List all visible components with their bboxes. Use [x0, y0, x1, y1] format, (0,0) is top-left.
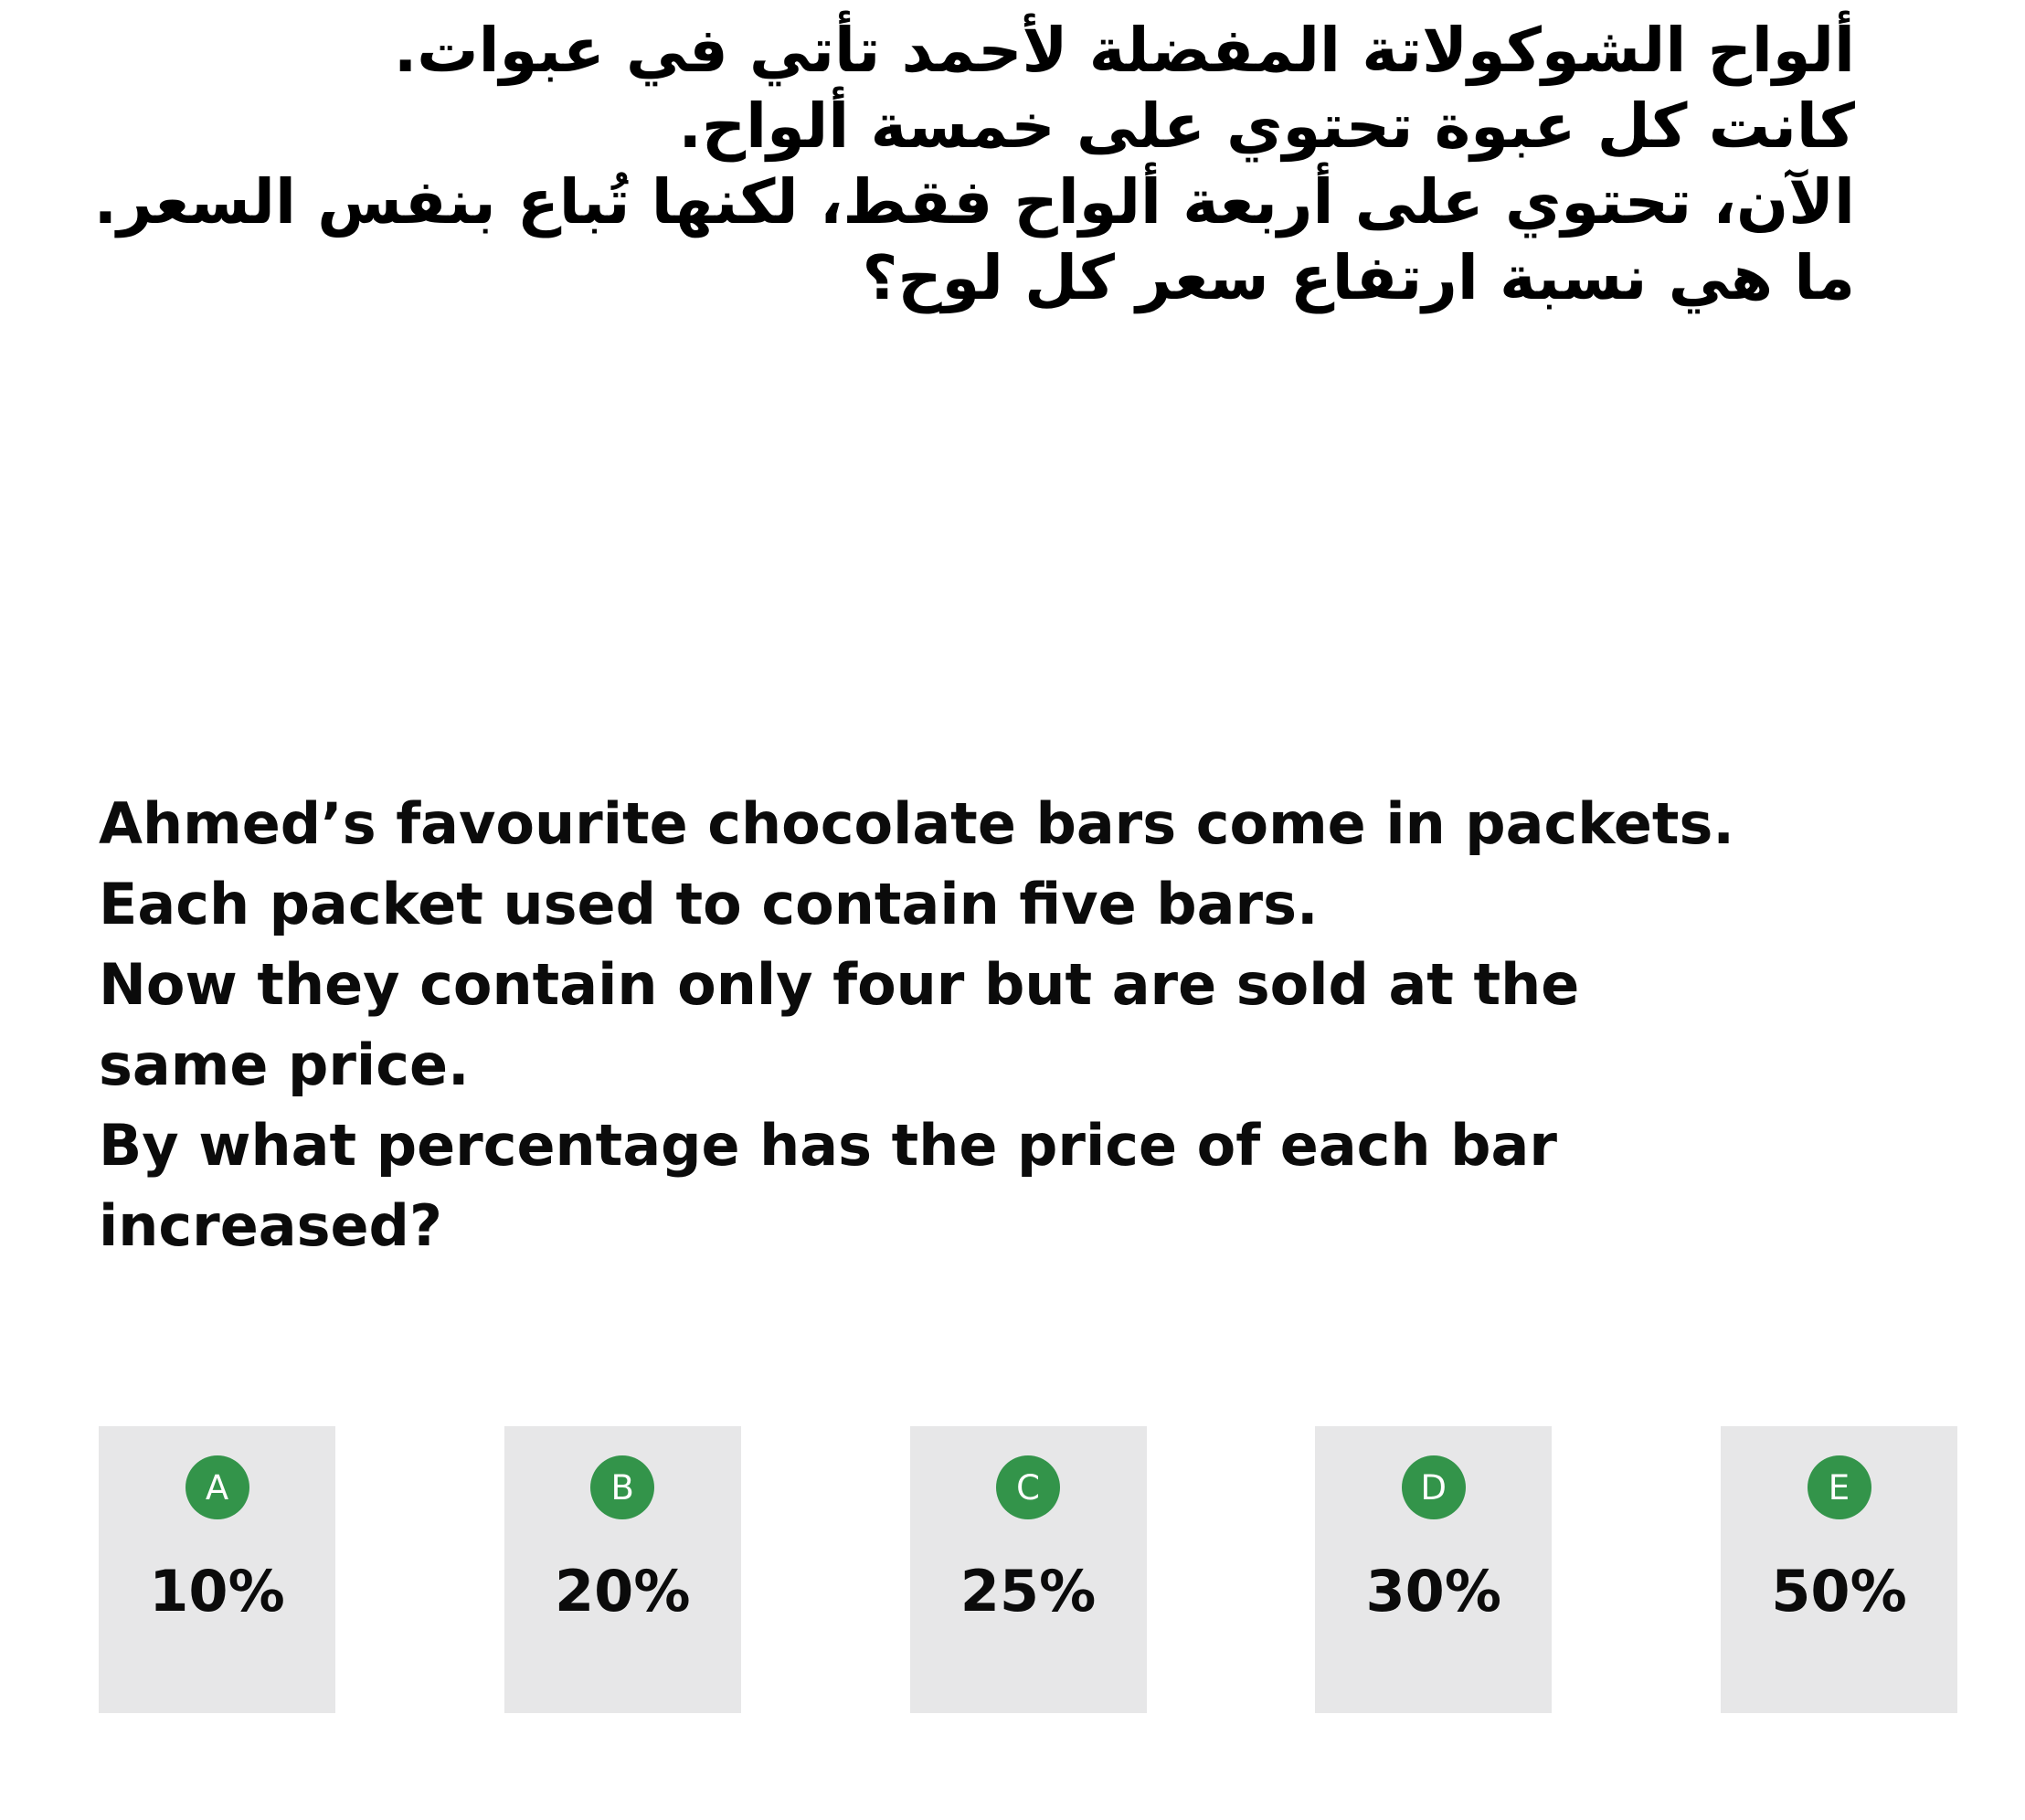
- option-value-c: 25%: [960, 1563, 1096, 1620]
- english-line-6: increased?: [99, 1186, 1817, 1266]
- answer-option-b[interactable]: B 20%: [504, 1426, 741, 1713]
- answer-options-row: A 10% B 20% C 25% D 30% E 50%: [99, 1426, 1957, 1713]
- answer-option-a[interactable]: A 10%: [99, 1426, 335, 1713]
- answer-option-c[interactable]: C 25%: [910, 1426, 1147, 1713]
- english-question-text: Ahmed’s favourite chocolate bars come in…: [99, 784, 1817, 1266]
- option-letter-badge-c: C: [996, 1455, 1060, 1519]
- option-letter-badge-d: D: [1402, 1455, 1466, 1519]
- option-letter-badge-e: E: [1808, 1455, 1871, 1519]
- arabic-line-4: ما هي نسبة ارتفاع سعر كل لوح؟: [91, 240, 1855, 316]
- option-value-b: 20%: [555, 1563, 690, 1620]
- answer-option-e[interactable]: E 50%: [1721, 1426, 1957, 1713]
- arabic-line-3: الآن، تحتوي على أربعة ألواح فقط، لكنها ت…: [91, 164, 1855, 240]
- english-line-1: Ahmed’s favourite chocolate bars come in…: [99, 784, 1817, 864]
- answer-option-d[interactable]: D 30%: [1315, 1426, 1552, 1713]
- option-value-e: 50%: [1771, 1563, 1906, 1620]
- option-value-a: 10%: [149, 1563, 284, 1620]
- english-line-4: same price.: [99, 1025, 1817, 1106]
- arabic-line-1: ألواح الشوكولاتة المفضلة لأحمد تأتي في ع…: [91, 13, 1855, 89]
- option-letter-badge-a: A: [186, 1455, 249, 1519]
- arabic-line-2: كانت كل عبوة تحتوي على خمسة ألواح.: [91, 89, 1855, 164]
- question-slide: { "arabic_prompt": { "direction": "rtl",…: [0, 0, 2025, 1820]
- option-letter-badge-b: B: [590, 1455, 654, 1519]
- english-line-5: By what percentage has the price of each…: [99, 1106, 1817, 1186]
- arabic-question-text: ألواح الشوكولاتة المفضلة لأحمد تأتي في ع…: [91, 13, 1855, 316]
- option-value-d: 30%: [1366, 1563, 1501, 1620]
- english-line-3: Now they contain only four but are sold …: [99, 945, 1817, 1025]
- english-line-2: Each packet used to contain five bars.: [99, 864, 1817, 945]
